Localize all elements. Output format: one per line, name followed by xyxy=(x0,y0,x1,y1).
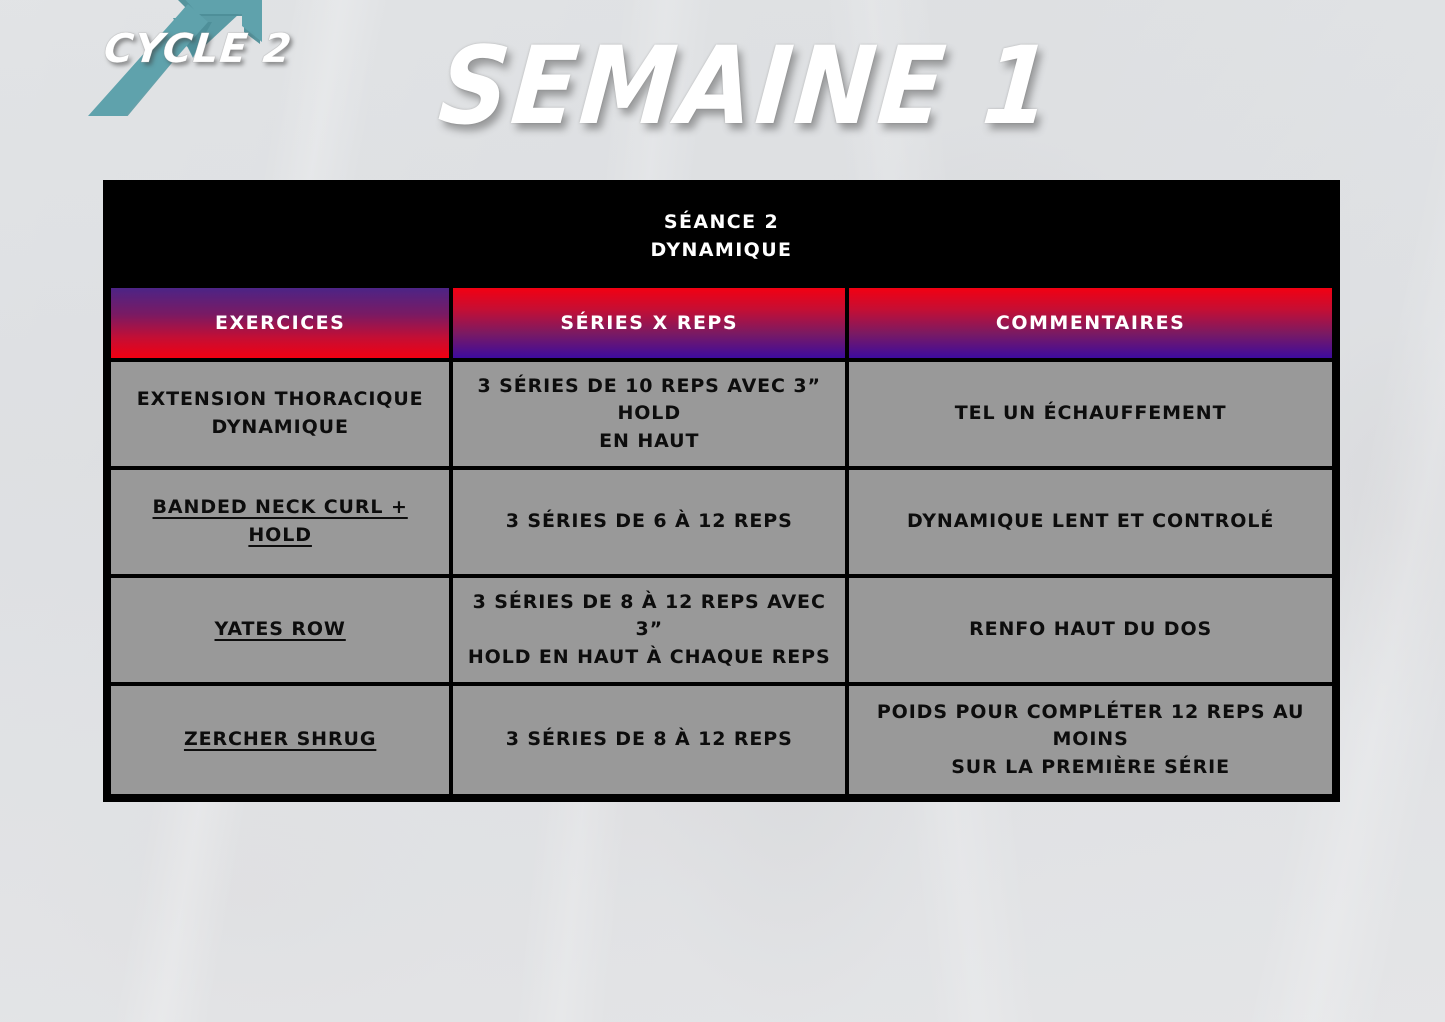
cycle-label: CYCLE 2 xyxy=(96,26,301,72)
column-header-row: EXERCICES SÉRIES X REPS COMMENTAIRES xyxy=(111,288,1332,358)
comment-cell: RENFO HAUT DU DOS xyxy=(849,578,1332,682)
comment-line-1: TEL UN ÉCHAUFFEMENT xyxy=(861,400,1320,428)
exercise-cell[interactable]: BANDED NECK CURL + HOLD xyxy=(111,470,449,574)
table-row: ZERCHER SHRUG 3 SÉRIES DE 8 À 12 REPS PO… xyxy=(111,686,1332,794)
session-title-cell: SÉANCE 2 DYNAMIQUE xyxy=(111,188,1332,284)
workout-table: SÉANCE 2 DYNAMIQUE EXERCICES SÉRIES X RE… xyxy=(103,180,1340,802)
comment-line-1: DYNAMIQUE LENT ET CONTROLÉ xyxy=(861,508,1320,536)
comment-cell: TEL UN ÉCHAUFFEMENT xyxy=(849,362,1332,466)
workout-table-inner: SÉANCE 2 DYNAMIQUE EXERCICES SÉRIES X RE… xyxy=(107,184,1336,798)
page-title: SEMAINE 1 xyxy=(435,32,1014,140)
column-header-series-reps: SÉRIES X REPS xyxy=(453,288,845,358)
table-row: EXTENSION THORACIQUE DYNAMIQUE 3 SÉRIES … xyxy=(111,362,1332,466)
exercise-cell[interactable]: YATES ROW xyxy=(111,578,449,682)
sets-reps-line-2: HOLD EN HAUT À CHAQUE REPS xyxy=(465,644,833,672)
sets-reps-line-1: 3 SÉRIES DE 8 À 12 REPS AVEC 3” xyxy=(465,589,833,644)
comment-cell: POIDS POUR COMPLÉTER 12 REPS AU MOINS SU… xyxy=(849,686,1332,794)
column-header-commentaires: COMMENTAIRES xyxy=(849,288,1332,358)
table-row: BANDED NECK CURL + HOLD 3 SÉRIES DE 6 À … xyxy=(111,470,1332,574)
sets-reps-cell: 3 SÉRIES DE 8 À 12 REPS AVEC 3” HOLD EN … xyxy=(453,578,845,682)
sets-reps-line-1: 3 SÉRIES DE 10 REPS AVEC 3” HOLD xyxy=(465,373,833,428)
sets-reps-cell: 3 SÉRIES DE 6 À 12 REPS xyxy=(453,470,845,574)
exercise-cell[interactable]: ZERCHER SHRUG xyxy=(111,686,449,794)
page-header: CYCLE 2 SEMAINE 1 xyxy=(0,0,1445,180)
sets-reps-cell: 3 SÉRIES DE 10 REPS AVEC 3” HOLD EN HAUT xyxy=(453,362,845,466)
exercise-cell: EXTENSION THORACIQUE DYNAMIQUE xyxy=(111,362,449,466)
sets-reps-line-1: 3 SÉRIES DE 6 À 12 REPS xyxy=(465,508,833,536)
cycle-badge: CYCLE 2 xyxy=(78,0,318,116)
exercise-link[interactable]: BANDED NECK CURL + HOLD xyxy=(123,494,437,549)
exercise-link[interactable]: ZERCHER SHRUG xyxy=(123,726,437,754)
exercise-link[interactable]: YATES ROW xyxy=(123,616,437,644)
sets-reps-cell: 3 SÉRIES DE 8 À 12 REPS xyxy=(453,686,845,794)
comment-line-2: SUR LA PREMIÈRE SÉRIE xyxy=(861,754,1320,782)
sets-reps-line-1: 3 SÉRIES DE 8 À 12 REPS xyxy=(465,726,833,754)
comment-cell: DYNAMIQUE LENT ET CONTROLÉ xyxy=(849,470,1332,574)
exercise-name-line-2: DYNAMIQUE xyxy=(123,414,437,442)
exercise-name-line-1: EXTENSION THORACIQUE xyxy=(123,386,437,414)
table-row: YATES ROW 3 SÉRIES DE 8 À 12 REPS AVEC 3… xyxy=(111,578,1332,682)
session-title-row: SÉANCE 2 DYNAMIQUE xyxy=(111,188,1332,284)
column-header-exercices: EXERCICES xyxy=(111,288,449,358)
comment-line-1: RENFO HAUT DU DOS xyxy=(861,616,1320,644)
comment-line-1: POIDS POUR COMPLÉTER 12 REPS AU MOINS xyxy=(861,699,1320,754)
sets-reps-line-2: EN HAUT xyxy=(465,428,833,456)
session-title-line-1: SÉANCE 2 xyxy=(121,208,1322,237)
session-title-line-2: DYNAMIQUE xyxy=(121,236,1322,265)
